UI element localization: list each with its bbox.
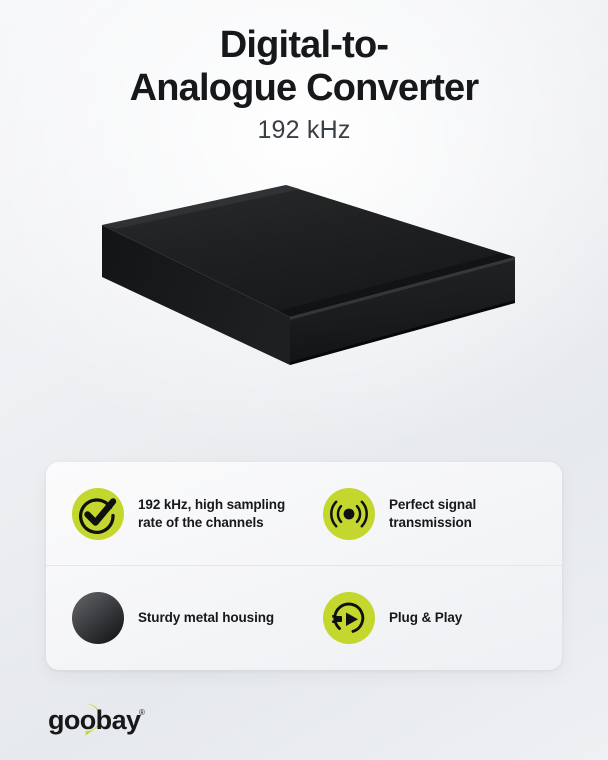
feature-row-top: 192 kHz, high sampling rate of the chann… — [46, 462, 562, 566]
feature-item-metal-housing: Sturdy metal housing — [46, 566, 311, 670]
page-header: Digital-to- Analogue Converter 192 kHz — [0, 0, 608, 145]
goobay-logo: goobay ® — [48, 702, 156, 736]
feature-item-sampling-rate: 192 kHz, high sampling rate of the chann… — [46, 462, 311, 566]
feature-item-signal-transmission: Perfect signal transmission — [311, 462, 562, 566]
feature-label: Sturdy metal housing — [138, 609, 274, 627]
feature-card: 192 kHz, high sampling rate of the chann… — [46, 462, 562, 670]
title-line-2: Analogue Converter — [0, 67, 608, 110]
metal-sphere-icon — [72, 592, 124, 644]
logo-trademark: ® — [139, 708, 145, 717]
feature-label: 192 kHz, high sampling rate of the chann… — [138, 496, 303, 532]
logo-wordmark: goobay — [48, 705, 141, 735]
check-circle-icon — [72, 488, 124, 540]
page-title: Digital-to- Analogue Converter — [0, 24, 608, 109]
feature-label: Perfect signal transmission — [389, 496, 554, 532]
plug-play-icon — [323, 592, 375, 644]
product-image-stage: POWER R L — [0, 169, 608, 419]
feature-row-bottom: Sturdy metal housing Plug & Play — [46, 566, 562, 670]
page-subtitle: 192 kHz — [0, 116, 608, 145]
product-device-illustration: POWER R L — [0, 169, 608, 419]
feature-label: Plug & Play — [389, 609, 462, 627]
title-line-1: Digital-to- — [220, 24, 389, 66]
feature-item-plug-and-play: Plug & Play — [311, 566, 562, 670]
signal-waves-icon — [323, 488, 375, 540]
